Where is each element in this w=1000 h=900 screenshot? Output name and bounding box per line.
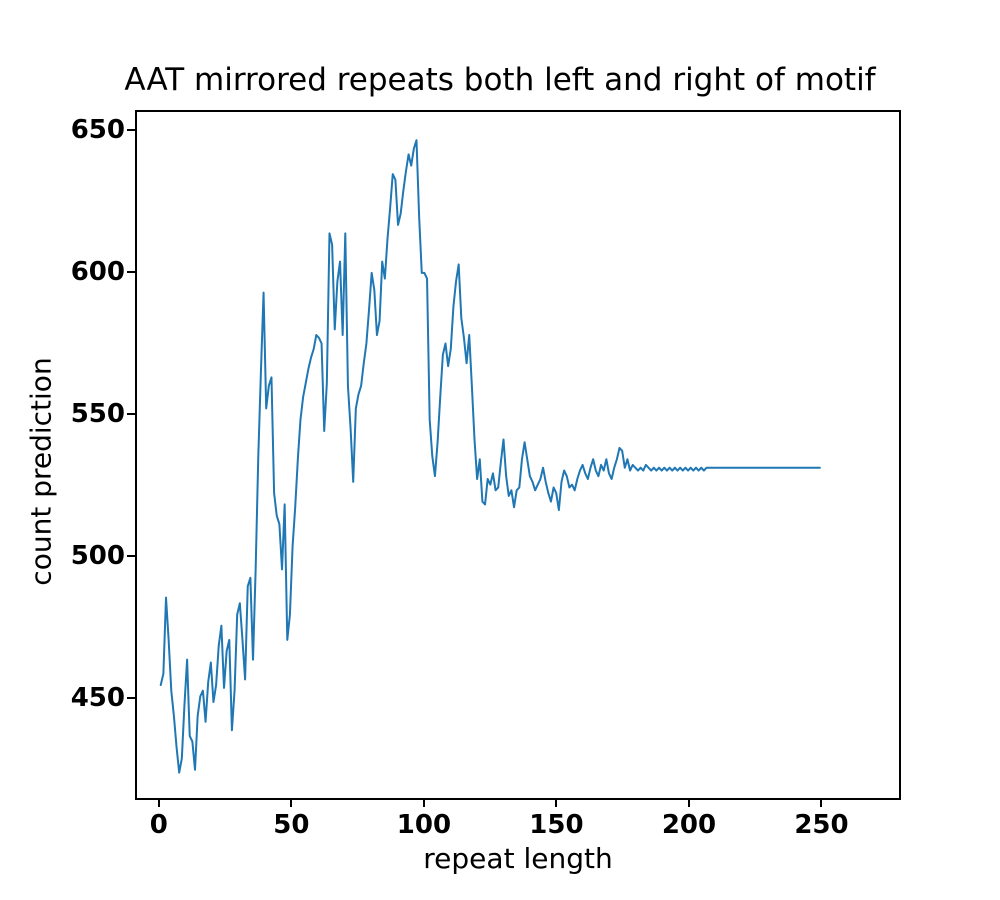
- data-line-svg: [137, 112, 899, 798]
- y-tick-mark: [127, 413, 135, 415]
- x-tick-label: 50: [273, 810, 309, 840]
- y-tick-label: 600: [71, 257, 125, 287]
- x-tick-label: 0: [150, 810, 168, 840]
- x-tick-mark: [555, 799, 557, 807]
- x-axis-label: repeat length: [135, 842, 901, 875]
- y-tick-label: 550: [71, 399, 125, 429]
- y-tick-mark: [127, 271, 135, 273]
- data-line-series: [161, 140, 820, 772]
- y-tick-label: 500: [71, 541, 125, 571]
- chart-title: AAT mirrored repeats both left and right…: [0, 62, 1000, 98]
- x-tick-mark: [688, 799, 690, 807]
- x-tick-mark: [423, 799, 425, 807]
- y-axis-label: count prediction: [25, 142, 58, 802]
- y-tick-label: 450: [71, 683, 125, 713]
- x-tick-mark: [290, 799, 292, 807]
- y-tick-mark: [127, 555, 135, 557]
- y-tick-label: 650: [71, 115, 125, 145]
- plot-area: [135, 110, 901, 800]
- x-tick-label: 250: [794, 810, 848, 840]
- x-tick-label: 150: [529, 810, 583, 840]
- y-tick-mark: [127, 129, 135, 131]
- x-tick-mark: [158, 799, 160, 807]
- x-tick-mark: [820, 799, 822, 807]
- x-tick-label: 100: [397, 810, 451, 840]
- chart-figure: AAT mirrored repeats both left and right…: [0, 0, 1000, 900]
- y-tick-mark: [127, 697, 135, 699]
- x-tick-label: 200: [662, 810, 716, 840]
